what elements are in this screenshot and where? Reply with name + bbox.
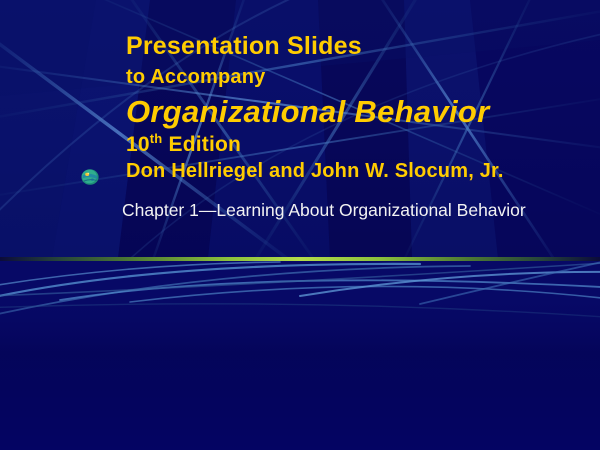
slide-text-block: Presentation Slides to Accompany Organiz…: [0, 0, 600, 257]
chapter-subtitle: Chapter 1—Learning About Organizational …: [122, 199, 532, 222]
edition-ordinal-suffix: th: [150, 131, 163, 146]
globe-icon: [80, 168, 100, 186]
edition-number: 10: [126, 133, 150, 156]
title-presentation-slides: Presentation Slides: [126, 33, 362, 60]
edition-line: 10th Edition: [126, 133, 241, 156]
authors-line: Don Hellriegel and John W. Slocum, Jr.: [126, 160, 504, 182]
subtitle-to-accompany: to Accompany: [126, 66, 265, 88]
divider-rule: [0, 257, 600, 261]
presentation-slide: Presentation Slides to Accompany Organiz…: [0, 0, 600, 450]
edition-word: Edition: [162, 133, 241, 156]
background-swooshes: [0, 258, 600, 450]
book-title: Organizational Behavior: [126, 95, 489, 129]
